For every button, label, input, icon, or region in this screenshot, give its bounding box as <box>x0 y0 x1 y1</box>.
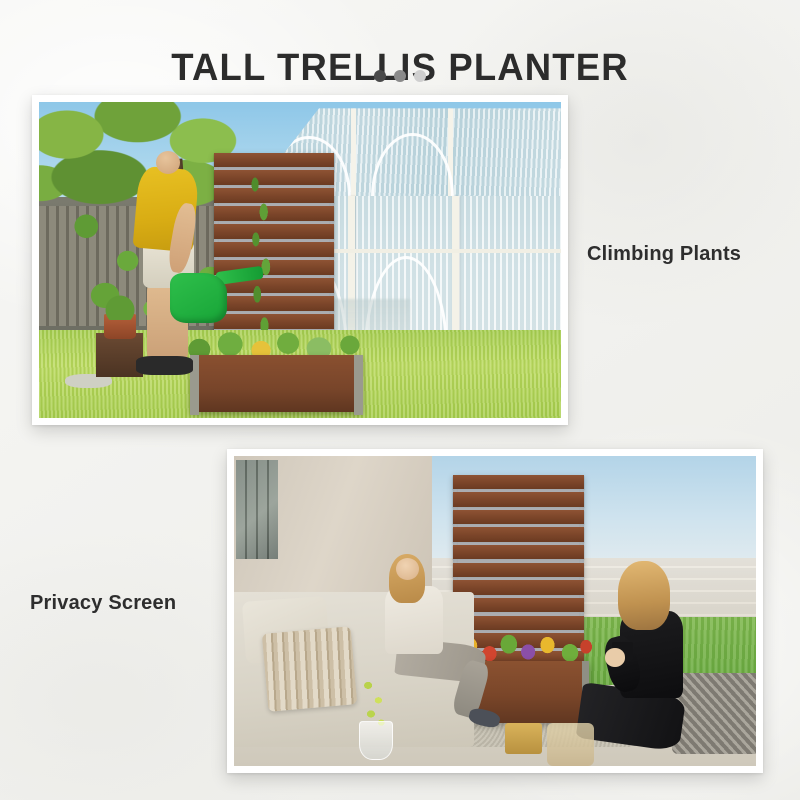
pagination-dot-2[interactable] <box>394 70 406 82</box>
woman-left-head <box>396 558 419 580</box>
gold-candle-holder <box>505 723 542 754</box>
wicker-chair <box>672 673 756 754</box>
woman-right-hair <box>618 561 670 629</box>
pagination-dot-3[interactable] <box>414 70 426 82</box>
glass-vase <box>359 721 392 760</box>
green-watering-can <box>170 273 227 324</box>
pagination-dot-1[interactable] <box>374 70 386 82</box>
potted-plant <box>99 295 141 320</box>
photo-climbing-plants[interactable] <box>32 95 568 425</box>
photo-privacy-screen[interactable] <box>227 449 763 773</box>
photo-privacy-screen-image <box>234 456 756 766</box>
callout-climbing-plants: Climbing Plants <box>587 243 741 266</box>
woman-right-hand <box>605 648 626 667</box>
person-shoes <box>136 356 193 375</box>
raised-planter-box <box>190 355 362 412</box>
page-title: TALL TRELLIS PLANTER <box>16 47 784 89</box>
throw-pillow <box>262 626 357 711</box>
photo-climbing-plants-image <box>39 102 561 418</box>
decorative-jar <box>547 723 594 766</box>
pagination-dots <box>0 70 800 82</box>
callout-privacy-screen: Privacy Screen <box>30 592 176 615</box>
product-infographic: TALL TRELLIS PLANTER <box>0 0 800 800</box>
sliding-glass-door <box>236 460 278 558</box>
person-head <box>156 151 180 174</box>
